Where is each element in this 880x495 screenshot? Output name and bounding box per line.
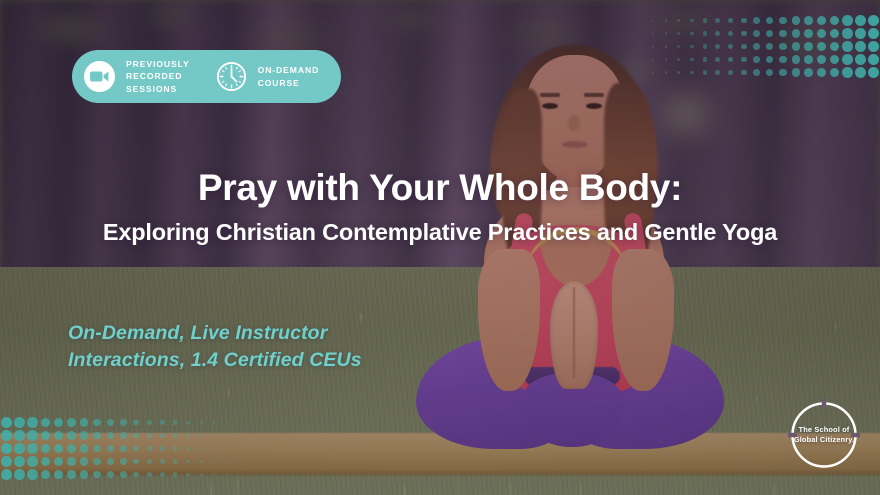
eye-left (542, 103, 558, 109)
page-title: Pray with Your Whole Body: (0, 168, 880, 207)
badge-previously-recorded-label: PREVIOUSLY RECORDED SESSIONS (126, 58, 190, 95)
foreground-grass-blades (0, 405, 880, 495)
nose (568, 115, 580, 131)
headline-block: Pray with Your Whole Body: Exploring Chr… (0, 168, 880, 246)
logo-text: The School of Global Citizenry. (786, 397, 862, 473)
prayer-hands (550, 281, 598, 389)
promo-banner: PREVIOUSLY RECORDED SESSIONS (0, 0, 880, 495)
video-camera-icon (84, 61, 115, 92)
school-of-global-citizenry-logo: The School of Global Citizenry. (786, 397, 862, 473)
page-subtitle: Exploring Christian Contemplative Practi… (0, 219, 880, 245)
badge-on-demand-course-label: ON-DEMAND COURSE (258, 64, 320, 88)
course-details-text: On-Demand, Live Instructor Interactions,… (68, 320, 362, 373)
eyebrow-left (540, 93, 560, 97)
course-format-badges: PREVIOUSLY RECORDED SESSIONS (72, 50, 341, 103)
eyebrow-right (584, 93, 604, 97)
clock-icon (216, 61, 247, 92)
eye-right (586, 103, 602, 109)
badge-previously-recorded: PREVIOUSLY RECORDED SESSIONS (84, 58, 190, 95)
mouth (562, 141, 588, 148)
badge-on-demand-course: ON-DEMAND COURSE (216, 61, 320, 92)
